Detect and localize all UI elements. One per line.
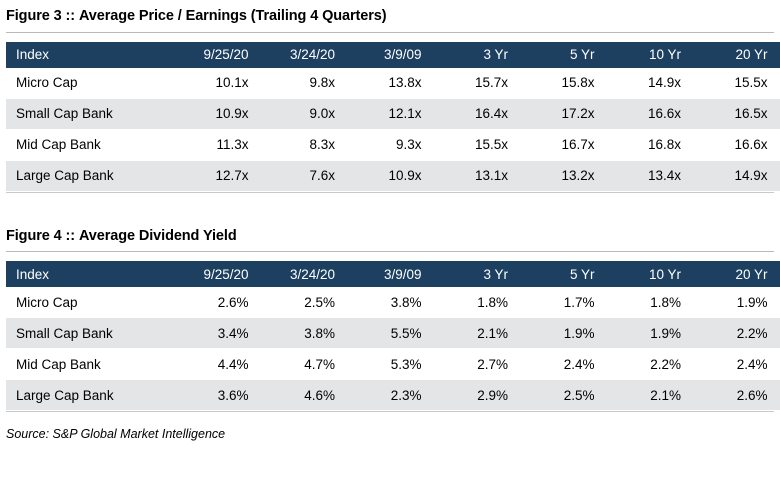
cell-value: 1.8% — [436, 287, 523, 318]
cell-value: 13.4x — [609, 160, 696, 191]
cell-value: 3.4% — [176, 318, 263, 349]
table-row: Mid Cap Bank 4.4% 4.7% 5.3% 2.7% 2.4% 2.… — [6, 349, 780, 380]
figure-4-table-body: Micro Cap 2.6% 2.5% 3.8% 1.8% 1.7% 1.8% … — [6, 287, 780, 411]
row-index-label: Mid Cap Bank — [6, 129, 176, 160]
figure-4-title-rule — [6, 251, 774, 252]
cell-value: 14.9x — [609, 68, 696, 99]
cell-value: 2.2% — [695, 318, 780, 349]
cell-value: 2.3% — [349, 380, 436, 411]
cell-value: 16.8x — [609, 129, 696, 160]
cell-value: 5.5% — [349, 318, 436, 349]
cell-value: 1.9% — [695, 287, 780, 318]
cell-value: 2.1% — [436, 318, 523, 349]
cell-value: 2.7% — [436, 349, 523, 380]
cell-value: 9.3x — [349, 129, 436, 160]
cell-value: 2.6% — [695, 380, 780, 411]
row-index-label: Small Cap Bank — [6, 98, 176, 129]
column-header-index[interactable]: Index — [6, 42, 176, 68]
header-row: Index 9/25/20 3/24/20 3/9/09 3 Yr 5 Yr 1… — [6, 42, 780, 68]
row-index-label: Micro Cap — [6, 287, 176, 318]
cell-value: 10.1x — [176, 68, 263, 99]
column-header-20yr[interactable]: 20 Yr — [695, 42, 780, 68]
table-row: Mid Cap Bank 11.3x 8.3x 9.3x 15.5x 16.7x… — [6, 129, 780, 160]
cell-value: 3.8% — [263, 318, 350, 349]
cell-value: 16.7x — [522, 129, 609, 160]
cell-value: 15.5x — [436, 129, 523, 160]
cell-value: 11.3x — [176, 129, 263, 160]
cell-value: 4.6% — [263, 380, 350, 411]
source-note: Source: S&P Global Market Intelligence — [6, 412, 774, 441]
cell-value: 9.8x — [263, 68, 350, 99]
column-header-10yr[interactable]: 10 Yr — [609, 42, 696, 68]
figure-4-table: Index 9/25/20 3/24/20 3/9/09 3 Yr 5 Yr 1… — [6, 261, 780, 411]
report-page: Figure 3 :: Average Price / Earnings (Tr… — [0, 0, 780, 491]
cell-value: 15.7x — [436, 68, 523, 99]
column-header-5yr[interactable]: 5 Yr — [522, 261, 609, 287]
cell-value: 12.1x — [349, 98, 436, 129]
figure-3-separator: :: — [66, 8, 75, 24]
cell-value: 16.6x — [609, 98, 696, 129]
figure-4-name: Average Dividend Yield — [79, 228, 237, 244]
cell-value: 5.3% — [349, 349, 436, 380]
cell-value: 16.6x — [695, 129, 780, 160]
cell-value: 1.9% — [522, 318, 609, 349]
figure-3-table: Index 9/25/20 3/24/20 3/9/09 3 Yr 5 Yr 1… — [6, 42, 780, 192]
figure-3-block: Figure 3 :: Average Price / Earnings (Tr… — [6, 0, 774, 193]
figure-3-name: Average Price / Earnings (Trailing 4 Qua… — [79, 8, 387, 24]
column-header-9-25-20[interactable]: 9/25/20 — [176, 261, 263, 287]
cell-value: 1.7% — [522, 287, 609, 318]
cell-value: 4.7% — [263, 349, 350, 380]
cell-value: 3.8% — [349, 287, 436, 318]
cell-value: 3.6% — [176, 380, 263, 411]
figures-gap — [6, 193, 774, 220]
figure-3-table-header: Index 9/25/20 3/24/20 3/9/09 3 Yr 5 Yr 1… — [6, 42, 780, 68]
cell-value: 12.7x — [176, 160, 263, 191]
cell-value: 2.5% — [522, 380, 609, 411]
figure-4-number: Figure 4 — [6, 228, 62, 244]
cell-value: 4.4% — [176, 349, 263, 380]
cell-value: 16.4x — [436, 98, 523, 129]
table-row: Small Cap Bank 10.9x 9.0x 12.1x 16.4x 17… — [6, 98, 780, 129]
table-row: Micro Cap 10.1x 9.8x 13.8x 15.7x 15.8x 1… — [6, 68, 780, 99]
cell-value: 10.9x — [349, 160, 436, 191]
cell-value: 16.5x — [695, 98, 780, 129]
cell-value: 2.9% — [436, 380, 523, 411]
figure-4-title: Figure 4 :: Average Dividend Yield — [6, 220, 774, 252]
cell-value: 1.9% — [609, 318, 696, 349]
cell-value: 2.2% — [609, 349, 696, 380]
column-header-20yr[interactable]: 20 Yr — [695, 261, 780, 287]
column-header-3yr[interactable]: 3 Yr — [436, 42, 523, 68]
cell-value: 2.4% — [695, 349, 780, 380]
figure-4-table-header: Index 9/25/20 3/24/20 3/9/09 3 Yr 5 Yr 1… — [6, 261, 780, 287]
cell-value: 2.5% — [263, 287, 350, 318]
figure-4-separator: :: — [66, 228, 75, 244]
column-header-9-25-20[interactable]: 9/25/20 — [176, 42, 263, 68]
row-index-label: Large Cap Bank — [6, 380, 176, 411]
row-index-label: Large Cap Bank — [6, 160, 176, 191]
column-header-10yr[interactable]: 10 Yr — [609, 261, 696, 287]
cell-value: 8.3x — [263, 129, 350, 160]
column-header-3-24-20[interactable]: 3/24/20 — [263, 261, 350, 287]
row-index-label: Mid Cap Bank — [6, 349, 176, 380]
cell-value: 2.1% — [609, 380, 696, 411]
header-row: Index 9/25/20 3/24/20 3/9/09 3 Yr 5 Yr 1… — [6, 261, 780, 287]
cell-value: 17.2x — [522, 98, 609, 129]
table-row: Large Cap Bank 12.7x 7.6x 10.9x 13.1x 13… — [6, 160, 780, 191]
row-index-label: Small Cap Bank — [6, 318, 176, 349]
figure-3-number: Figure 3 — [6, 8, 62, 24]
table-row: Micro Cap 2.6% 2.5% 3.8% 1.8% 1.7% 1.8% … — [6, 287, 780, 318]
figure-3-title-rule — [6, 32, 774, 33]
figure-4-block: Figure 4 :: Average Dividend Yield Index… — [6, 220, 774, 413]
cell-value: 13.8x — [349, 68, 436, 99]
column-header-index[interactable]: Index — [6, 261, 176, 287]
cell-value: 10.9x — [176, 98, 263, 129]
table-row: Small Cap Bank 3.4% 3.8% 5.5% 2.1% 1.9% … — [6, 318, 780, 349]
column-header-3yr[interactable]: 3 Yr — [436, 261, 523, 287]
figure-3-table-body: Micro Cap 10.1x 9.8x 13.8x 15.7x 15.8x 1… — [6, 68, 780, 192]
column-header-3-24-20[interactable]: 3/24/20 — [263, 42, 350, 68]
figure-3-title: Figure 3 :: Average Price / Earnings (Tr… — [6, 0, 774, 32]
cell-value: 2.4% — [522, 349, 609, 380]
row-index-label: Micro Cap — [6, 68, 176, 99]
cell-value: 7.6x — [263, 160, 350, 191]
cell-value: 9.0x — [263, 98, 350, 129]
cell-value: 15.5x — [695, 68, 780, 99]
cell-value: 13.2x — [522, 160, 609, 191]
column-header-3-9-09[interactable]: 3/9/09 — [349, 261, 436, 287]
cell-value: 13.1x — [436, 160, 523, 191]
table-row: Large Cap Bank 3.6% 4.6% 2.3% 2.9% 2.5% … — [6, 380, 780, 411]
cell-value: 1.8% — [609, 287, 696, 318]
cell-value: 2.6% — [176, 287, 263, 318]
column-header-3-9-09[interactable]: 3/9/09 — [349, 42, 436, 68]
cell-value: 15.8x — [522, 68, 609, 99]
column-header-5yr[interactable]: 5 Yr — [522, 42, 609, 68]
cell-value: 14.9x — [695, 160, 780, 191]
